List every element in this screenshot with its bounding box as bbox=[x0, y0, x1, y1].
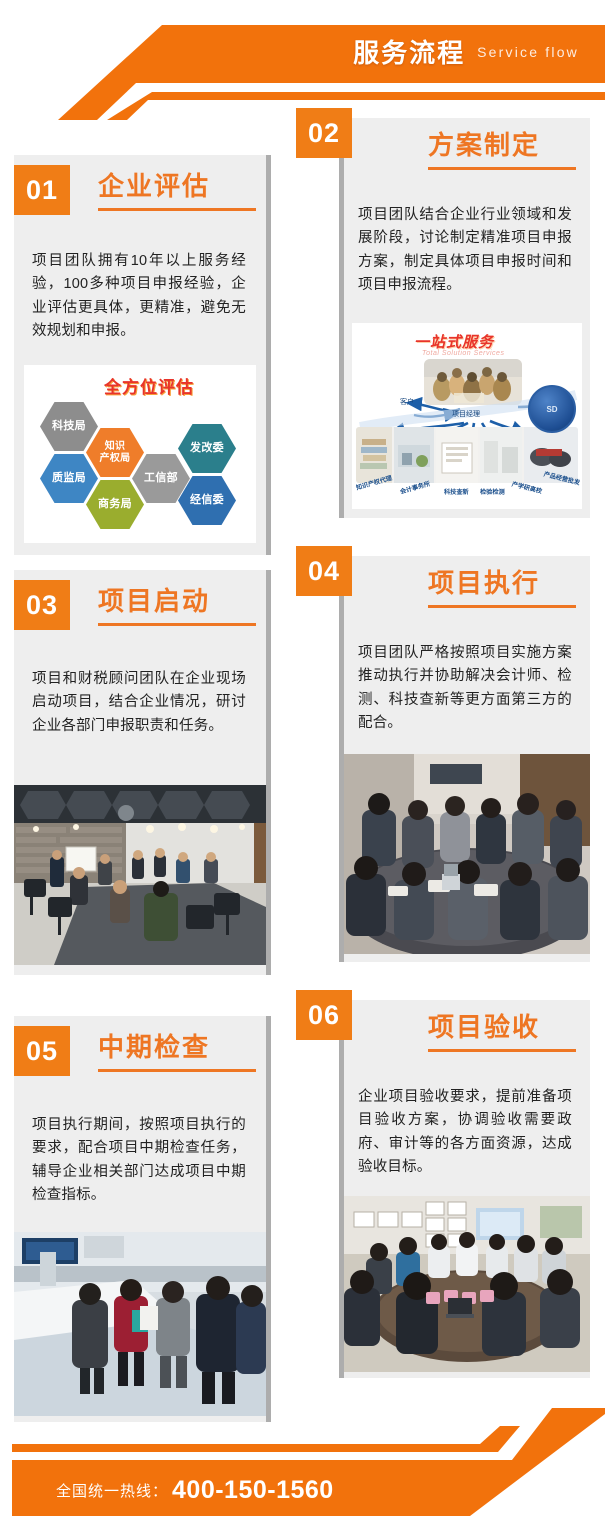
title-underline bbox=[98, 208, 256, 211]
hotline-label: 全国统一热线： bbox=[56, 1480, 168, 1501]
step-title-text-04: 项目执行 bbox=[428, 568, 540, 598]
photo-meeting-table bbox=[344, 754, 590, 954]
step-number-badge-01: 01 bbox=[14, 165, 70, 215]
step-number-badge-02: 02 bbox=[296, 108, 352, 158]
step-body-01: 项目团队拥有10年以上服务经验，100多种项目申报经验，企业评估更具体，更精准，… bbox=[32, 250, 246, 344]
hex-node-keji: 科技局 bbox=[40, 401, 98, 452]
step-card-03[interactable]: 03 项目启动 项目和财税顾问团队在企业现场启动项目，结合企业情况，研讨企业各部… bbox=[14, 570, 266, 975]
one-stop-service-diagram: 一站式服务 Total Solution Services bbox=[352, 323, 582, 509]
card-shadow-edge bbox=[266, 570, 271, 975]
photo-conference-room bbox=[14, 785, 266, 965]
step-title-03: 项目启动 bbox=[98, 588, 256, 626]
hex-diagram: 全方位评估 科技局 知识 产权局 质监局 工信部 商务局 发改委 经信委 bbox=[24, 365, 256, 543]
title-underline bbox=[98, 1069, 256, 1072]
card-shadow-edge bbox=[266, 1016, 271, 1422]
one-stop-label-2: 科技查新 bbox=[444, 487, 469, 496]
step-body-05: 项目执行期间，按照项目执行的要求，配合项目中期检查任务，辅导企业相关部门达成项目… bbox=[32, 1114, 246, 1208]
step-card-05[interactable]: 05 中期检查 项目执行期间，按照项目执行的要求，配合项目中期检查任务，辅导企业… bbox=[14, 1016, 266, 1422]
step-title-01: 企业评估 bbox=[98, 173, 256, 211]
step-title-06: 项目验收 bbox=[428, 1014, 576, 1052]
one-stop-node-customer: 客户 bbox=[400, 397, 414, 407]
step-body-06: 企业项目验收要求，提前准备项目验收方案，协调验收需要政府、审计等的各方面资源，达… bbox=[358, 1086, 572, 1180]
title-underline bbox=[98, 623, 256, 626]
card-shadow-edge bbox=[339, 118, 344, 518]
step-body-02: 项目团队结合企业行业领域和发展阶段，讨论制定精准项目申报方案，制定具体项目申报时… bbox=[358, 204, 572, 298]
footer-orange-stripe bbox=[12, 1426, 520, 1452]
header-orange-stripe bbox=[107, 92, 605, 120]
hex-node-zscqj: 知识 产权局 bbox=[86, 427, 144, 478]
hex-diagram-title: 全方位评估 bbox=[104, 373, 194, 398]
step-title-05: 中期检查 bbox=[98, 1034, 256, 1072]
step-card-06[interactable]: 06 项目验收 企业项目验收要求，提前准备项目验收方案，协调验收需要政府、审计等… bbox=[344, 1000, 590, 1378]
step-body-03: 项目和财税顾问团队在企业现场启动项目，结合企业情况，研讨企业各部门申报职责和任务… bbox=[32, 668, 246, 738]
photo-boardroom bbox=[344, 1196, 590, 1372]
step-title-02: 方案制定 bbox=[428, 132, 576, 170]
one-stop-label-3: 检验检测 bbox=[480, 487, 505, 496]
step-title-text-03: 项目启动 bbox=[98, 586, 210, 616]
page-header: 服务流程 Service flow bbox=[0, 0, 605, 120]
step-body-04: 项目团队严格按照项目实施方案推动执行并协助解决会计师、检测、科技查新等更方面第三… bbox=[358, 642, 572, 736]
service-flow-page: 服务流程 Service flow 01 企业评估 项目团队拥有10年以上服务经… bbox=[0, 0, 605, 1538]
step-number-badge-05: 05 bbox=[14, 1026, 70, 1076]
page-footer: 全国统一热线： 400-150-1560 bbox=[0, 1408, 605, 1538]
hex-node-fagaiwei: 发改委 bbox=[178, 423, 236, 474]
step-title-text-01: 企业评估 bbox=[98, 171, 210, 201]
hex-node-zhijianju: 质监局 bbox=[40, 453, 98, 504]
one-stop-node-manager: 项目经理 bbox=[452, 409, 480, 419]
step-number-badge-03: 03 bbox=[14, 580, 70, 630]
step-title-text-02: 方案制定 bbox=[428, 130, 540, 160]
card-shadow-edge bbox=[266, 155, 271, 555]
step-card-04[interactable]: 04 项目执行 项目团队严格按照项目实施方案推动执行并协助解决会计师、检测、科技… bbox=[344, 556, 590, 962]
page-title: 服务流程 bbox=[353, 40, 465, 66]
title-underline bbox=[428, 1049, 576, 1052]
photo-site-visit bbox=[14, 1232, 266, 1416]
page-subtitle: Service flow bbox=[477, 45, 579, 61]
hotline-number[interactable]: 400-150-1560 bbox=[172, 1476, 334, 1505]
title-underline bbox=[428, 605, 576, 608]
step-card-01[interactable]: 01 企业评估 项目团队拥有10年以上服务经验，100多种项目申报经验，企业评估… bbox=[14, 155, 266, 555]
step-number-badge-06: 06 bbox=[296, 990, 352, 1040]
step-title-text-05: 中期检查 bbox=[98, 1032, 210, 1062]
step-title-text-06: 项目验收 bbox=[428, 1012, 540, 1042]
step-title-04: 项目执行 bbox=[428, 570, 576, 608]
title-underline bbox=[428, 167, 576, 170]
step-number-badge-04: 04 bbox=[296, 546, 352, 596]
one-stop-seal-icon: SD bbox=[528, 385, 576, 433]
step-card-02[interactable]: 02 方案制定 项目团队结合企业行业领域和发展阶段，讨论制定精准项目申报方案，制… bbox=[344, 118, 590, 518]
hex-node-shangwuju: 商务局 bbox=[86, 479, 144, 530]
